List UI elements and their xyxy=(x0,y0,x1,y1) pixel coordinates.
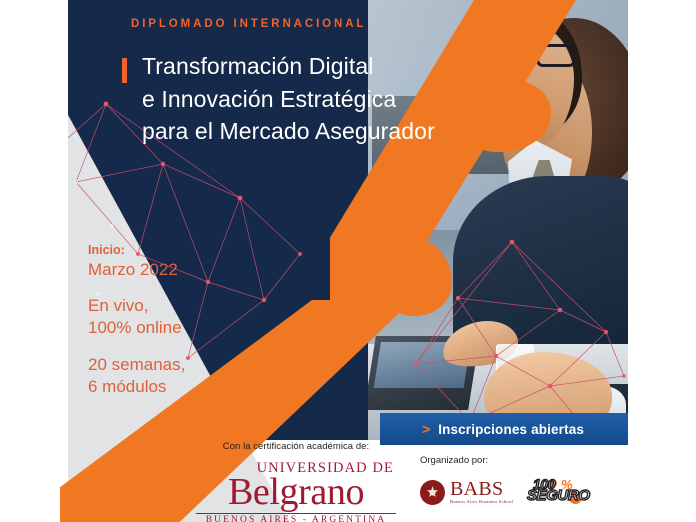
detail-start-date-value: Marzo 2022 xyxy=(88,259,238,281)
enrollment-banner-label: Inscripciones abiertas xyxy=(438,422,584,437)
babs-logo: BABS Buenos Aires Business School xyxy=(420,479,513,505)
title-accent-bar xyxy=(122,58,127,83)
chevron-right-icon: > xyxy=(422,422,430,436)
promotional-poster: DIPLOMADO INTERNACIONAL Transformación D… xyxy=(0,0,696,522)
title-block: Transformación Digital e Innovación Estr… xyxy=(122,50,542,148)
course-details: Inicio: Marzo 2022 En vivo, 100% online … xyxy=(88,243,238,397)
babs-name: BABS xyxy=(450,479,513,499)
cien-seguro-logo: 100 % SEGURO xyxy=(527,477,589,507)
organizers-block: Organizado por: BABS Buenos Aires Busine… xyxy=(420,455,620,507)
belgrano-logo-main: Belgrano xyxy=(196,473,396,511)
belgrano-logo-sub: BUENOS AIRES - ARGENTINA xyxy=(196,516,396,522)
certification-caption: Con la certificación académica de: xyxy=(196,441,396,452)
certification-block: Con la certificación académica de: UNIVE… xyxy=(196,441,396,522)
detail-format-value: En vivo, 100% online xyxy=(88,295,238,339)
title-line-2: e Innovación Estratégica xyxy=(142,83,542,116)
organizers-caption: Organizado por: xyxy=(420,455,620,466)
seguro-word: SEGURO xyxy=(527,488,590,503)
babs-wordmark: BABS Buenos Aires Business School xyxy=(450,479,513,505)
universidad-belgrano-logo: UNIVERSIDAD DE Belgrano BUENOS AIRES - A… xyxy=(196,461,396,522)
kicker-label: DIPLOMADO INTERNACIONAL xyxy=(131,18,366,30)
organizer-logos: BABS Buenos Aires Business School 100 % … xyxy=(420,477,620,507)
detail-start-date-label: Inicio: xyxy=(88,243,238,259)
page-title: Transformación Digital e Innovación Estr… xyxy=(122,50,542,148)
detail-duration: 20 semanas, 6 módulos xyxy=(88,354,238,398)
detail-format: En vivo, 100% online xyxy=(88,295,238,339)
detail-start-date: Inicio: Marzo 2022 xyxy=(88,243,238,280)
title-line-3: para el Mercado Asegurador xyxy=(142,115,542,148)
detail-duration-value: 20 semanas, 6 módulos xyxy=(88,354,238,398)
babs-crest-icon xyxy=(420,480,445,505)
enrollment-banner[interactable]: > Inscripciones abiertas xyxy=(380,413,628,445)
belgrano-logo-rule xyxy=(196,513,396,515)
title-line-1: Transformación Digital xyxy=(142,50,542,83)
babs-tagline: Buenos Aires Business School xyxy=(450,500,513,505)
